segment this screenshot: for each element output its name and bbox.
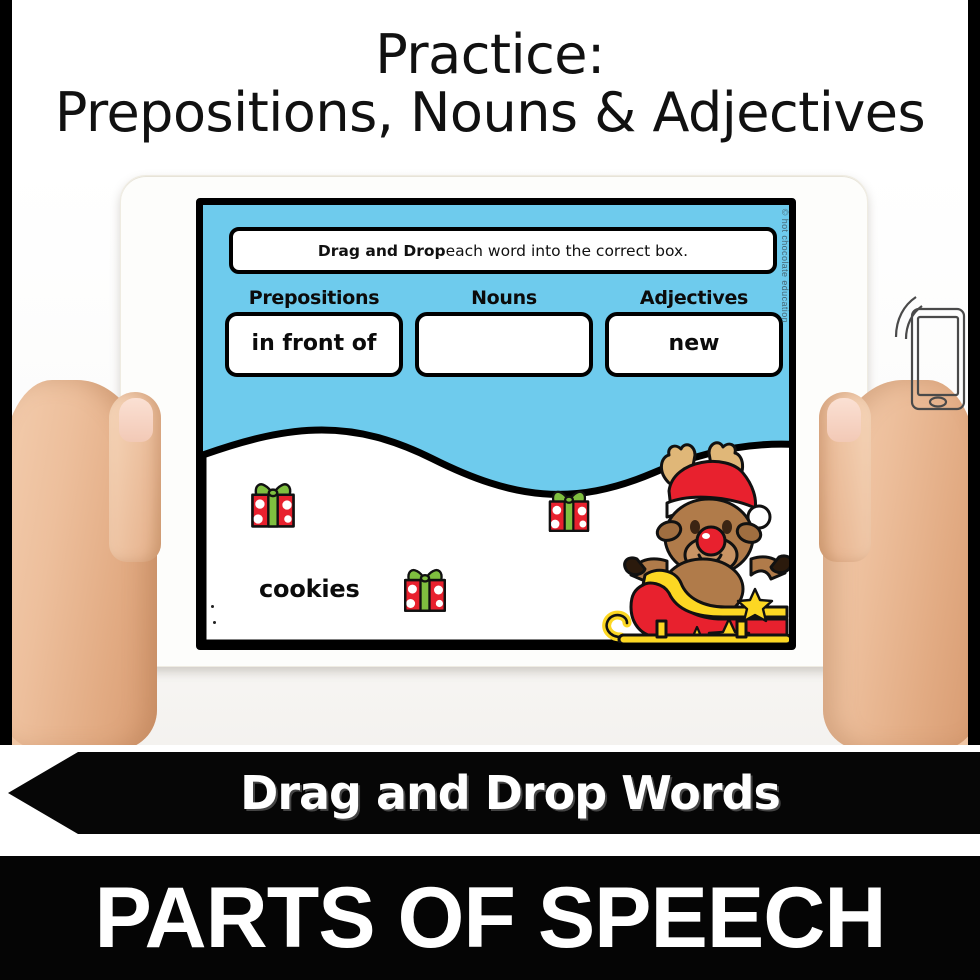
category-prepositions: Prepositions in front of xyxy=(225,287,403,377)
category-label-nouns: Nouns xyxy=(415,287,593,309)
instruction-rest: each word into the correct box. xyxy=(446,242,688,260)
right-thumb xyxy=(819,392,871,562)
left-thumb xyxy=(109,392,161,562)
drop-box-prepositions[interactable]: in front of xyxy=(225,312,403,377)
category-label-prepositions: Prepositions xyxy=(225,287,403,309)
instruction-bar: Drag and Drop each word into the correct… xyxy=(229,227,777,274)
category-columns: Prepositions in front of Nouns Adjective… xyxy=(225,287,783,377)
footer-label: PARTS OF SPEECH xyxy=(95,869,886,968)
right-hand xyxy=(823,380,968,745)
banner-label: Drag and Drop Words xyxy=(200,766,780,820)
tablet-device-icon xyxy=(890,293,966,415)
activity-slide: © hot chocolate education Drag and Drop … xyxy=(203,205,789,643)
corner-dot xyxy=(213,621,216,624)
corner-dot xyxy=(211,605,214,608)
drag-and-drop-banner: Drag and Drop Words xyxy=(0,752,980,834)
page-title: Practice: Prepositions, Nouns & Adjectiv… xyxy=(0,26,980,143)
poster-canvas: Practice: Prepositions, Nouns & Adjectiv… xyxy=(0,0,980,980)
copyright-watermark: © hot chocolate education xyxy=(780,209,789,323)
drop-box-nouns[interactable] xyxy=(415,312,593,377)
draggable-word-cookies[interactable]: cookies xyxy=(259,575,360,603)
word-bank-items: cookies xyxy=(203,415,789,643)
gift-box-icon[interactable] xyxy=(245,477,301,533)
footer-bar: PARTS OF SPEECH xyxy=(0,856,980,980)
gift-box-icon[interactable] xyxy=(398,563,454,619)
left-hand xyxy=(12,380,157,745)
category-adjectives: Adjectives new xyxy=(605,287,783,377)
drop-box-adjectives[interactable]: new xyxy=(605,312,783,377)
category-label-adjectives: Adjectives xyxy=(605,287,783,309)
left-thumbnail xyxy=(119,398,153,442)
right-thumbnail xyxy=(827,398,861,442)
page-title-line-2: Prepositions, Nouns & Adjectives xyxy=(0,84,980,142)
snow-area: cookies xyxy=(203,415,789,643)
instruction-bold: Drag and Drop xyxy=(318,242,446,260)
reindeer-in-sleigh-icon xyxy=(587,431,789,643)
tablet-photo-scene: © hot chocolate education Drag and Drop … xyxy=(12,165,968,745)
category-nouns: Nouns xyxy=(415,287,593,377)
tablet-device: © hot chocolate education Drag and Drop … xyxy=(120,175,868,667)
page-title-line-1: Practice: xyxy=(0,26,980,84)
tablet-screen: © hot chocolate education Drag and Drop … xyxy=(196,198,796,650)
